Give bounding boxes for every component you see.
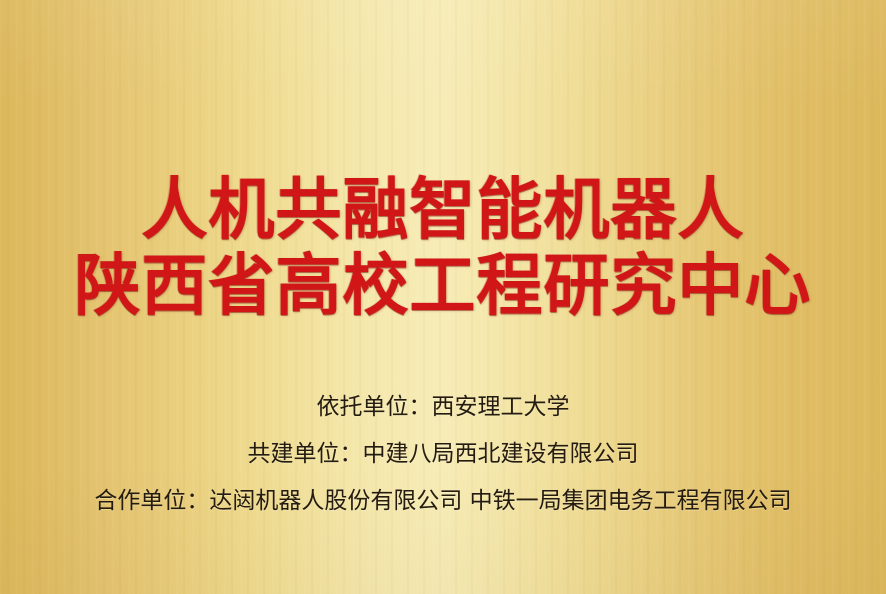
plaque-affiliation-block: 依托单位：西安理工大学 共建单位：中建八局西北建设有限公司 合作单位：达闼机器人…	[0, 396, 886, 513]
affiliation-partner-institutions: 合作单位：达闼机器人股份有限公司 中铁一局集团电务工程有限公司	[0, 490, 886, 513]
affiliation-host-institution: 依托单位：西安理工大学	[0, 396, 886, 419]
plaque-title-line-1: 人机共融智能机器人	[0, 175, 886, 242]
plaque-title-block: 人机共融智能机器人 陕西省高校工程研究中心	[0, 176, 886, 318]
award-plaque: 人机共融智能机器人 陕西省高校工程研究中心 依托单位：西安理工大学 共建单位：中…	[0, 0, 886, 594]
plaque-title-line-2: 陕西省高校工程研究中心	[0, 251, 886, 318]
affiliation-co-building-institution: 共建单位：中建八局西北建设有限公司	[0, 443, 886, 466]
